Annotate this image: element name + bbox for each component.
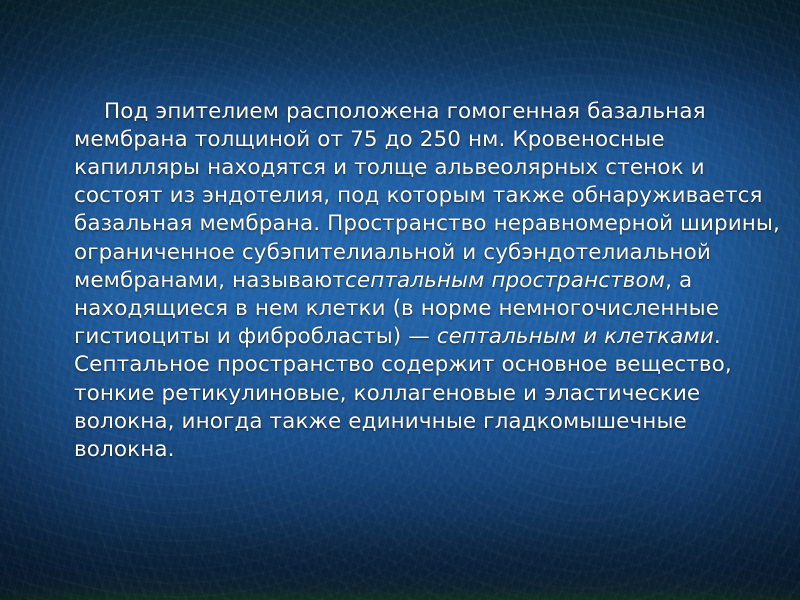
text-run-0: Под эпителием расположена гомогенная баз…: [74, 99, 787, 293]
text-run-1: септальным пространством: [345, 268, 665, 293]
slide-body-text: Под эпителием расположена гомогенная баз…: [42, 98, 786, 465]
text-run-3: септальным и клетками: [437, 324, 714, 349]
presentation-slide: Под эпителием расположена гомогенная баз…: [0, 0, 800, 600]
